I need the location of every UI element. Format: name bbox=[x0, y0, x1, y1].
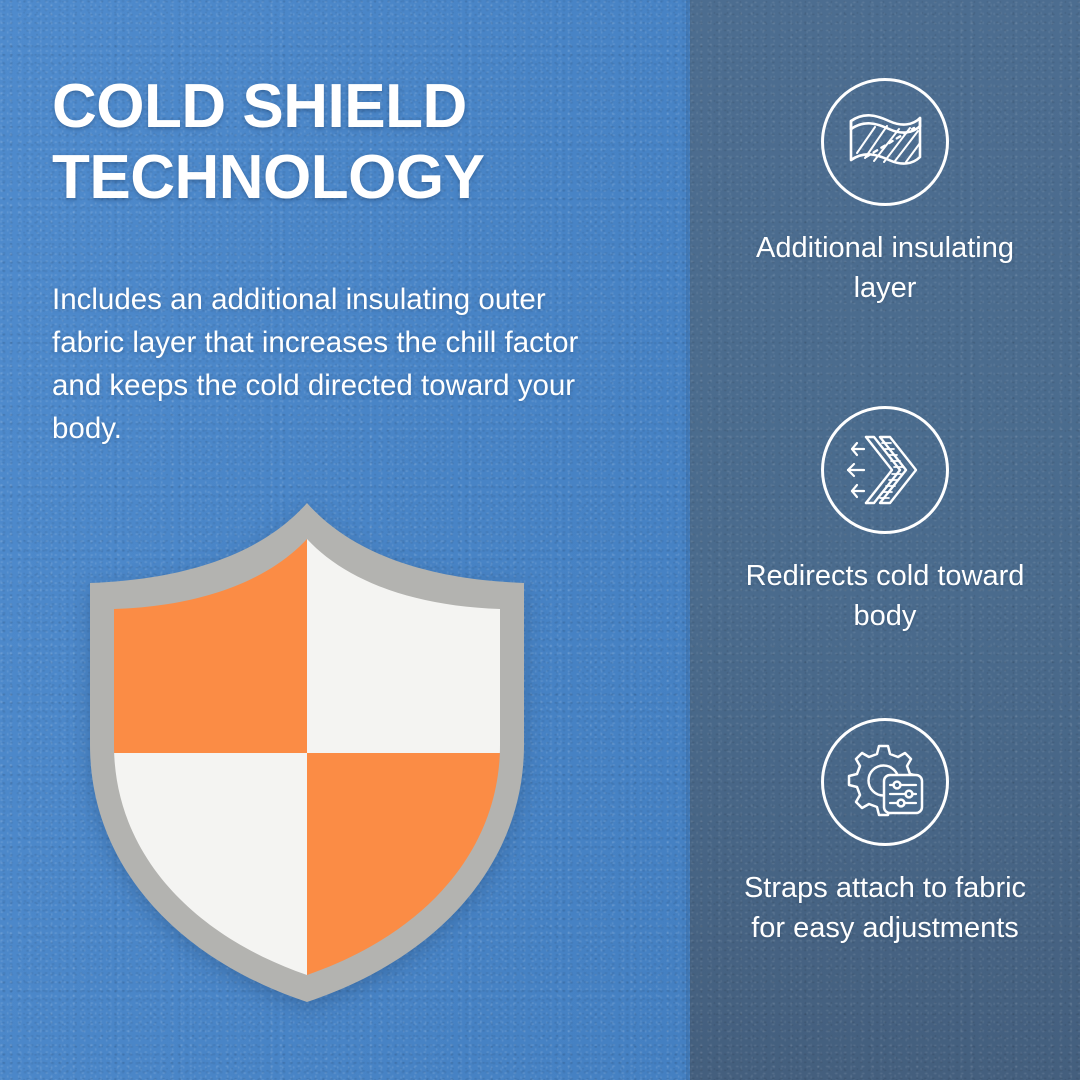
description-text: Includes an additional insulating outer … bbox=[52, 278, 622, 450]
feature-caption: Straps attach to fabric for easy adjustm… bbox=[735, 868, 1035, 948]
shield-quadrants bbox=[72, 495, 542, 1010]
feature-item-redirects-cold[interactable]: Redirects cold toward body bbox=[690, 406, 1080, 636]
fabric-layer-icon bbox=[821, 78, 949, 206]
feature-caption: Additional insulating layer bbox=[735, 228, 1035, 308]
layered-chevron-icon bbox=[821, 406, 949, 534]
feature-item-strap-adjustments[interactable]: Straps attach to fabric for easy adjustm… bbox=[690, 718, 1080, 948]
feature-list: Additional insulating layer bbox=[690, 0, 1080, 1080]
left-column: COLD SHIELD TECHNOLOGY Includes an addit… bbox=[0, 0, 690, 1080]
page-title: COLD SHIELD TECHNOLOGY bbox=[52, 72, 642, 213]
feature-item-insulating-layer[interactable]: Additional insulating layer bbox=[690, 78, 1080, 308]
poster-canvas: COLD SHIELD TECHNOLOGY Includes an addit… bbox=[0, 0, 1080, 1080]
feature-caption: Redirects cold toward body bbox=[735, 556, 1035, 636]
gear-sliders-icon bbox=[821, 718, 949, 846]
shield-graphic bbox=[72, 495, 542, 1010]
